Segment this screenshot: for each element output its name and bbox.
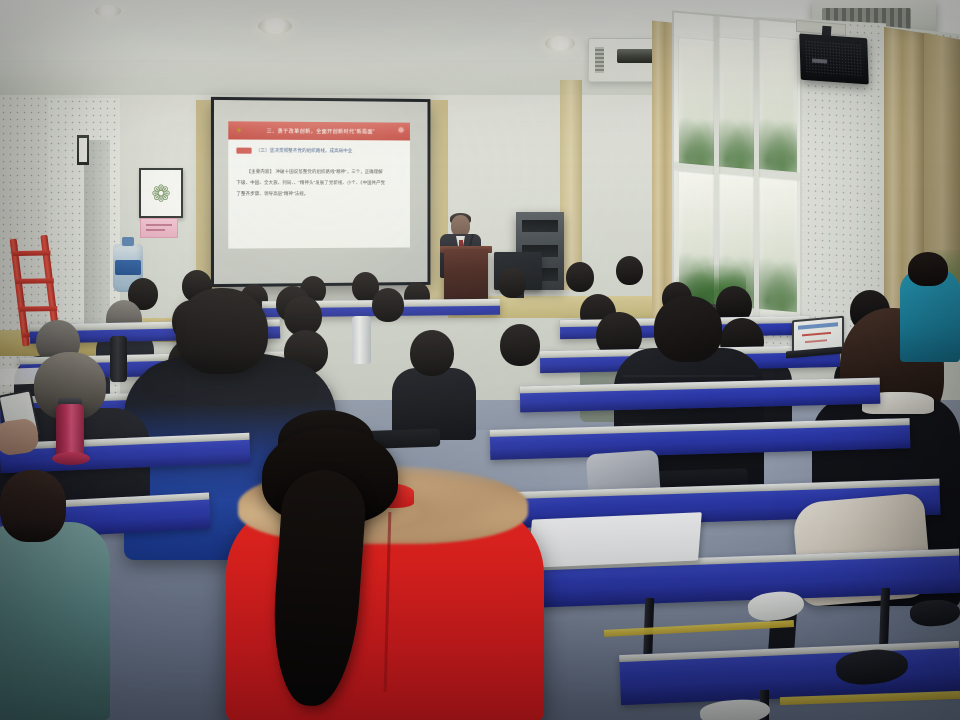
pink-notice-sign (140, 218, 178, 238)
audience-head (410, 330, 454, 376)
pink-thermos (56, 404, 84, 456)
thermos-base-ring (52, 452, 90, 465)
audience-head (500, 324, 540, 366)
slide-body-line: 了整齐步骤、领导高层“精神”法规。 (236, 191, 308, 197)
audience-teal-body (0, 522, 110, 720)
water-bottle-dark (110, 336, 127, 382)
slide-section-chip (236, 148, 251, 154)
framed-art: ❁ (139, 168, 183, 218)
party-emblem-icon: ✦ (232, 124, 245, 137)
plant-icon: ❁ (151, 182, 170, 205)
slide-right-emblem-icon: ✸ (395, 124, 407, 139)
slide-body-line: 下级、中国、全大族、列局、、“精神头”发展了党新线、小个、《中国共产党 (236, 180, 385, 186)
screen-surface: ✦ 三、勇于改革创新，全面开创新时代“新局面” ✸ （三）坚决贯彻整齐党的组织路… (214, 100, 428, 284)
slide-header-bar: ✦ 三、勇于改革创新，全面开创新时代“新局面” ✸ (228, 121, 410, 140)
paper-sheet (528, 512, 702, 568)
window-pane (718, 36, 756, 171)
water-bottle (352, 316, 371, 364)
window-mullion (754, 19, 759, 319)
downlight-icon (545, 36, 575, 51)
window-pane (758, 174, 798, 313)
audience-head (566, 262, 594, 292)
wall-notice-paper (79, 138, 87, 162)
lecture-hall-photo: ❁ ✦ 三、勇于改革创新，全面开创新时代“新局面” ✸ （三）坚决 (0, 0, 960, 720)
downlight-icon (258, 18, 292, 34)
audience-head-cyan (908, 252, 948, 286)
audience-blue-jacket-head (176, 288, 268, 374)
audience-head (372, 288, 404, 322)
audience-head (616, 256, 643, 285)
downlight-icon (95, 5, 121, 17)
window-pane (758, 36, 798, 173)
slide-section-row: （三）坚决贯彻整齐党的组织路线，成高局中业 (236, 148, 352, 155)
wall-alcove (84, 140, 110, 340)
slide-body-line: 【主要内容】 冲破十国说监整党的组织路线“精神”，三个，正确理解 (247, 169, 383, 175)
audience-teal-head (0, 470, 66, 542)
presentation-slide: ✦ 三、勇于改革创新，全面开创新时代“新局面” ✸ （三）坚决贯彻整齐党的组织路… (228, 121, 410, 248)
slide-section-text: （三）坚决贯彻整齐党的组织路线，成高局中业 (256, 148, 353, 154)
audience-head-puffer (654, 296, 722, 362)
window-pane (678, 37, 716, 170)
slide-title: 三、勇于改革创新，全面开创新时代“新局面” (246, 127, 396, 135)
audience-head (498, 268, 526, 298)
projection-screen: ✦ 三、勇于改革创新，全面开创新时代“新局面” ✸ （三）坚决贯彻整齐党的组织路… (211, 97, 430, 287)
lectern (444, 249, 488, 301)
wall-speaker (799, 34, 869, 85)
